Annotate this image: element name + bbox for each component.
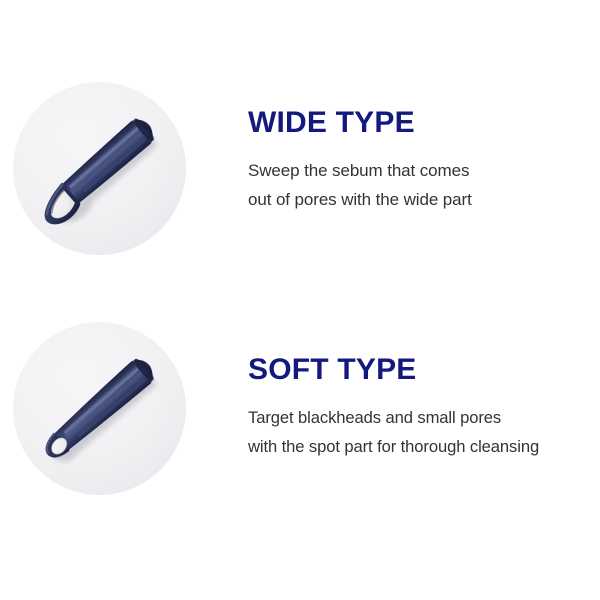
feature-description-line: out of pores with the wide part: [248, 185, 596, 214]
feature-description-wide-type: Sweep the sebum that comes out of pores …: [248, 138, 596, 214]
feature-description-line: with the spot part for thorough cleansin…: [248, 432, 596, 461]
product-image-medallion-soft: [13, 322, 186, 495]
feature-text-column-soft: SOFT TYPE Target blackheads and small po…: [248, 312, 596, 461]
feature-heading-soft-type: SOFT TYPE: [248, 312, 596, 385]
feature-text-column-wide: WIDE TYPE Sweep the sebum that comes out…: [248, 72, 596, 214]
feature-description-line: Target blackheads and small pores: [248, 403, 596, 432]
feature-section-wide-type: WIDE TYPE Sweep the sebum that comes out…: [0, 72, 600, 282]
feature-description-line: Sweep the sebum that comes: [248, 156, 596, 185]
feature-heading-wide-type: WIDE TYPE: [248, 72, 596, 138]
product-feature-infographic: WIDE TYPE Sweep the sebum that comes out…: [0, 0, 600, 600]
feature-description-soft-type: Target blackheads and small pores with t…: [248, 385, 596, 461]
product-image-medallion-wide: [13, 82, 186, 255]
feature-section-soft-type: SOFT TYPE Target blackheads and small po…: [0, 312, 600, 522]
comedone-extractor-wide-loop-icon: [13, 82, 186, 255]
comedone-extractor-spot-hole-icon: [13, 322, 186, 495]
